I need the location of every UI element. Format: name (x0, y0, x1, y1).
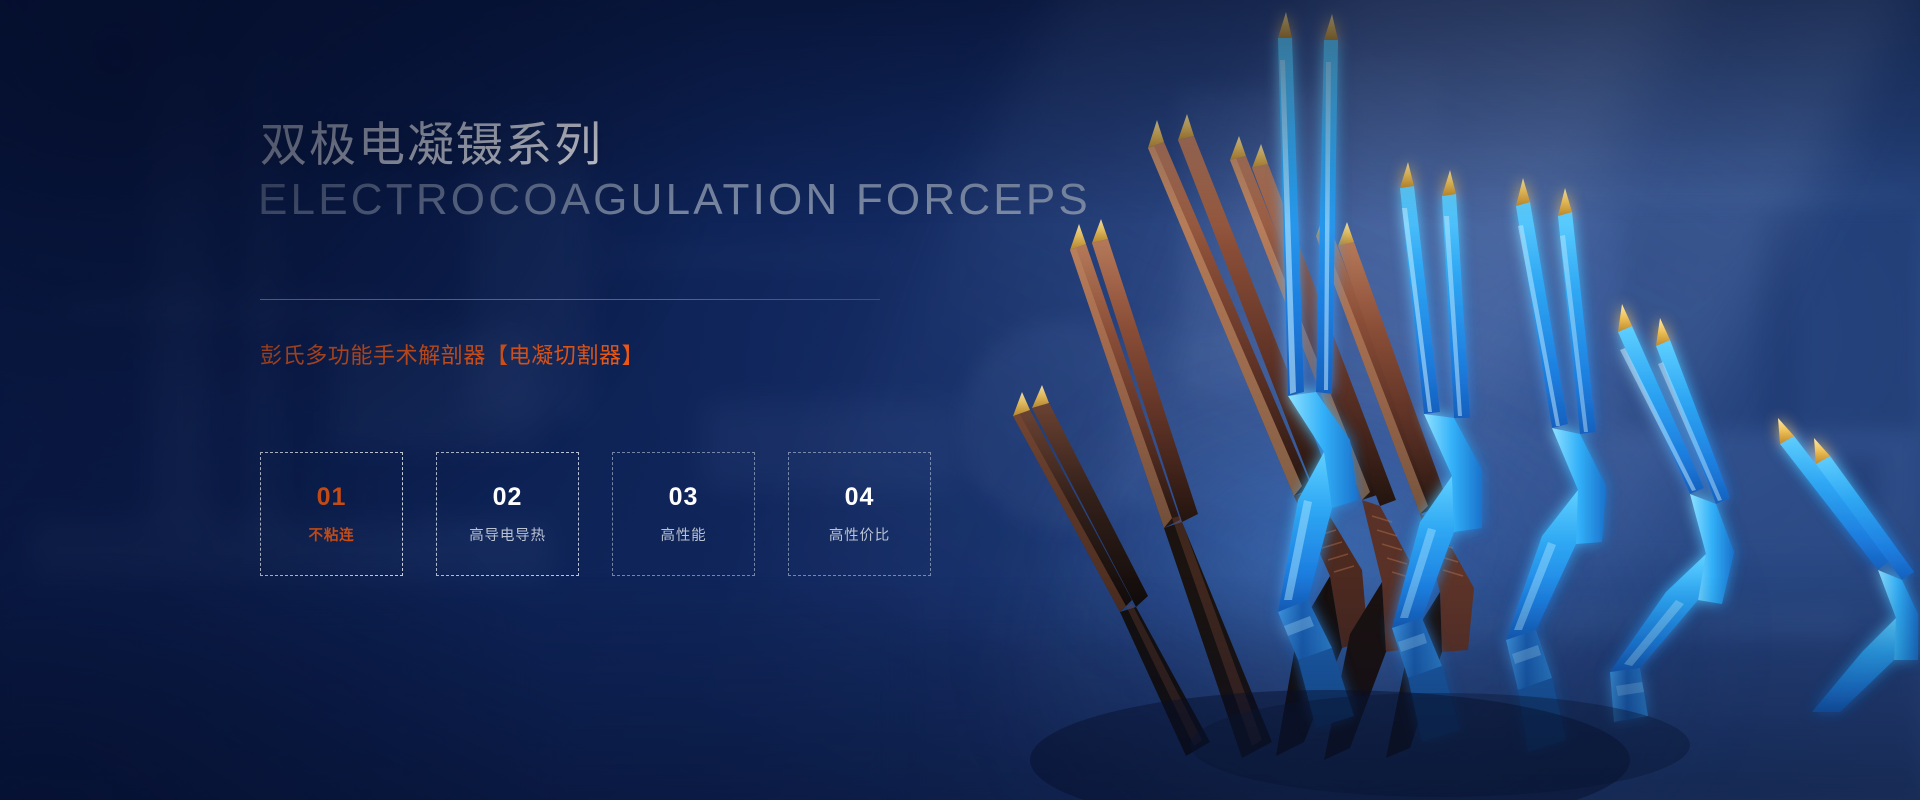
product-banner: 双极电凝镊系列 ELECTROCOAGULATION FORCEPS 彭氏多功能… (0, 0, 1920, 800)
background-vignette (0, 0, 1920, 800)
